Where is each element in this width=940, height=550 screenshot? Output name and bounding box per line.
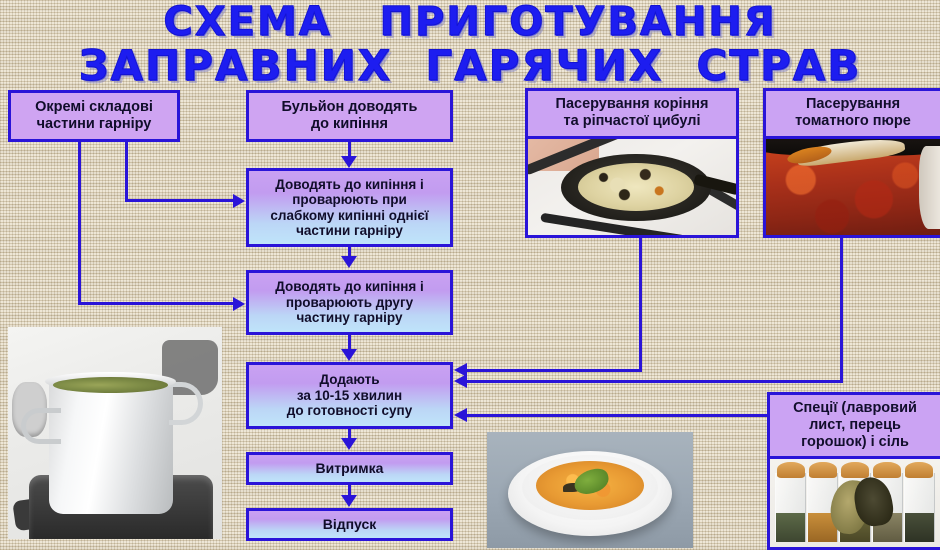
card-saute-roots[interactable]: Пасерування коріння та ріпчастої цибулі (525, 88, 739, 238)
connector-saute-roots-vertical (639, 238, 642, 372)
card-spices[interactable]: Спеції (лавровий лист, перець горошок) і… (767, 392, 940, 550)
card-saute-tomato[interactable]: Пасерування томатного пюре (763, 88, 940, 238)
arrowhead-spices-to-add (454, 408, 467, 422)
box-garnish-parts[interactable]: Окремі складові частини гарніру (8, 90, 180, 142)
card-saute-roots-caption: Пасерування коріння та ріпчастої цибулі (528, 91, 736, 136)
arrowhead-garnish-to-second-boil (233, 297, 245, 311)
box-serving[interactable]: Відпуск (246, 508, 453, 541)
skillet-photo (528, 136, 736, 235)
arrowhead-saute-tomato-to-add (454, 374, 467, 388)
box-boil-second-part[interactable]: Доводять до кипіння і проварюють другу ч… (246, 270, 453, 335)
connector-saute-roots-horizontal (466, 369, 642, 372)
card-saute-tomato-caption: Пасерування томатного пюре (766, 91, 940, 136)
card-spices-caption: Спеції (лавровий лист, перець горошок) і… (770, 395, 940, 456)
arrowhead-garnish-to-first-boil (233, 194, 245, 208)
tomato-puree-photo (766, 136, 940, 235)
arrowhead-first-to-second-boil (341, 256, 357, 268)
box-broth-boil[interactable]: Бульйон доводять до кипіння (246, 90, 453, 142)
box-holding[interactable]: Витримка (246, 452, 453, 485)
arrowhead-holding-to-serving (341, 495, 357, 507)
box-boil-first-part[interactable]: Доводять до кипіння і проварюють при сла… (246, 168, 453, 247)
spice-jars-photo (770, 456, 940, 547)
connector-garnish-to-second-boil-horizontal (78, 302, 235, 305)
connector-spices-to-add (466, 414, 768, 417)
arrowhead-second-boil-to-add (341, 349, 357, 361)
page-title: СХЕМА ПРИГОТУВАННЯ ЗАПРАВНИХ ГАРЯЧИХ СТР… (0, 2, 940, 88)
title-line-1: СХЕМА ПРИГОТУВАННЯ (0, 2, 940, 43)
connector-garnish-to-second-boil-vertical (78, 142, 81, 305)
connector-saute-tomato-horizontal (466, 380, 843, 383)
arrowhead-add-to-holding (341, 438, 357, 450)
photo-soup-plate (487, 432, 693, 548)
connector-saute-tomato-vertical (840, 238, 843, 383)
connector-garnish-to-first-boil-vertical (125, 142, 128, 202)
arrowhead-broth-to-first-boil (341, 156, 357, 168)
connector-garnish-to-first-boil-horizontal (125, 199, 235, 202)
title-line-2: ЗАПРАВНИХ ГАРЯЧИХ СТРАВ (0, 45, 940, 88)
box-add-before-ready[interactable]: Додають за 10-15 хвилин до готовності су… (246, 362, 453, 429)
connector-second-boil-to-add (348, 335, 351, 350)
photo-pot-on-stove (8, 327, 222, 539)
diagram-canvas: СХЕМА ПРИГОТУВАННЯ ЗАПРАВНИХ ГАРЯЧИХ СТР… (0, 0, 940, 550)
